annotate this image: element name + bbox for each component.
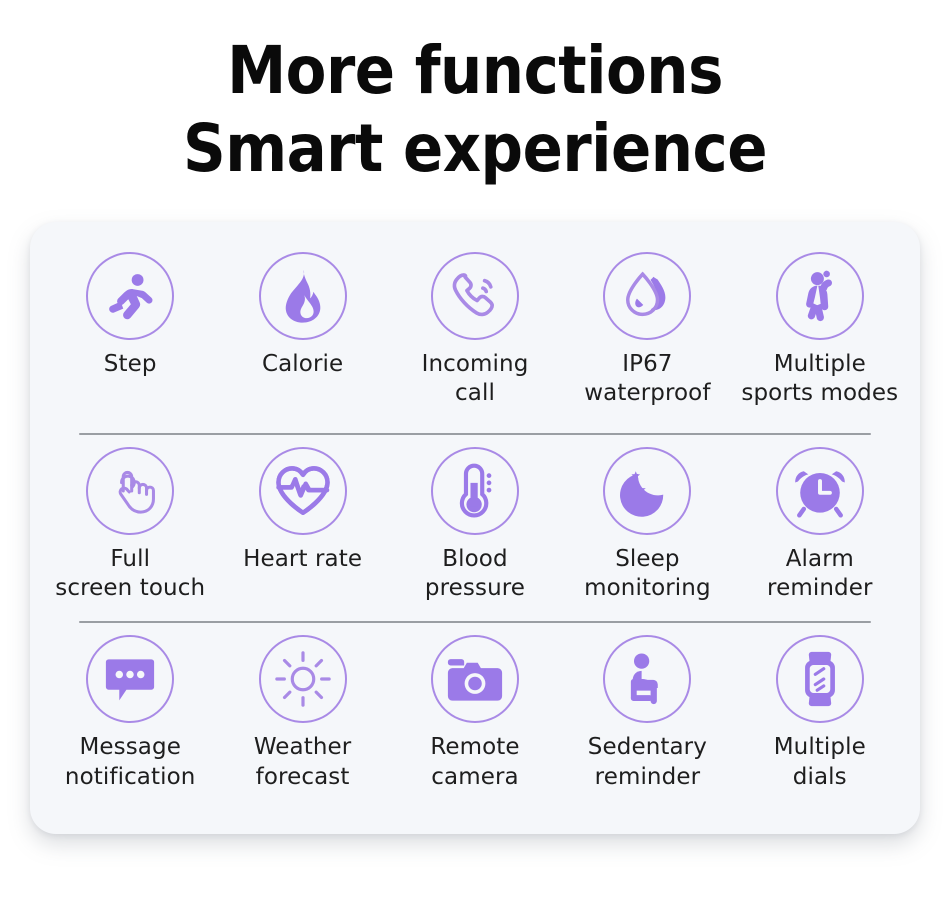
camera-icon [431, 635, 519, 723]
feature-label: Alarm reminder [767, 545, 872, 603]
feature-step[interactable]: Step [44, 252, 216, 379]
feature-multiple-dials[interactable]: Multiple dials [734, 635, 906, 791]
seated-person-icon [603, 635, 691, 723]
message-bubble-icon [86, 635, 174, 723]
feature-label: Weather forecast [254, 733, 352, 791]
feature-label: Incoming call [422, 350, 529, 408]
feature-label: Full screen touch [55, 545, 205, 603]
flame-icon [259, 252, 347, 340]
alarm-clock-icon [776, 447, 864, 535]
feature-message-notification[interactable]: Message notification [44, 635, 216, 791]
running-person-icon [86, 252, 174, 340]
feature-calorie[interactable]: Calorie [216, 252, 388, 379]
feature-row-1: Step Calorie [44, 240, 906, 433]
feature-label: Step [104, 350, 157, 379]
feature-blood-pressure[interactable]: Blood pressure [389, 447, 561, 603]
touch-hand-icon [86, 447, 174, 535]
feature-card-wrapper: Step Calorie [30, 222, 920, 834]
feature-label: Sleep monitoring [584, 545, 711, 603]
feature-card: Step Calorie [30, 222, 920, 834]
page-root: More functions Smart experience Step [0, 0, 950, 906]
feature-label: Heart rate [243, 545, 362, 574]
feature-sedentary-reminder[interactable]: Sedentary reminder [561, 635, 733, 791]
feature-row-2: Full screen touch Heart rate [44, 435, 906, 622]
feature-incoming-call[interactable]: Incoming call [389, 252, 561, 408]
heart-pulse-icon [259, 447, 347, 535]
feature-remote-camera[interactable]: Remote camera [389, 635, 561, 791]
feature-row-3: Message notification [44, 623, 906, 820]
crescent-moon-stars-icon [603, 447, 691, 535]
feature-full-screen-touch[interactable]: Full screen touch [44, 447, 216, 603]
page-title: More functions Smart experience [0, 0, 950, 190]
feature-alarm-reminder[interactable]: Alarm reminder [734, 447, 906, 603]
feature-label: Remote camera [430, 733, 519, 791]
stretching-person-icon [776, 252, 864, 340]
feature-label: Multiple dials [774, 733, 866, 791]
feature-ip67-waterproof[interactable]: IP67 waterproof [561, 252, 733, 408]
sun-icon [259, 635, 347, 723]
feature-label: Message notification [65, 733, 196, 791]
feature-label: IP67 waterproof [584, 350, 710, 408]
feature-label: Blood pressure [425, 545, 525, 603]
feature-multiple-sports-modes[interactable]: Multiple sports modes [734, 252, 906, 408]
page-title-line-2: Smart experience [0, 108, 950, 190]
phone-ringing-icon [431, 252, 519, 340]
page-title-line-1: More functions [0, 30, 950, 112]
feature-label: Multiple sports modes [741, 350, 898, 408]
feature-label: Calorie [262, 350, 343, 379]
feature-weather-forecast[interactable]: Weather forecast [216, 635, 388, 791]
feature-heart-rate[interactable]: Heart rate [216, 447, 388, 574]
feature-sleep-monitoring[interactable]: Sleep monitoring [561, 447, 733, 603]
smartwatch-icon [776, 635, 864, 723]
water-drop-icon [603, 252, 691, 340]
thermometer-icon [431, 447, 519, 535]
feature-label: Sedentary reminder [588, 733, 707, 791]
